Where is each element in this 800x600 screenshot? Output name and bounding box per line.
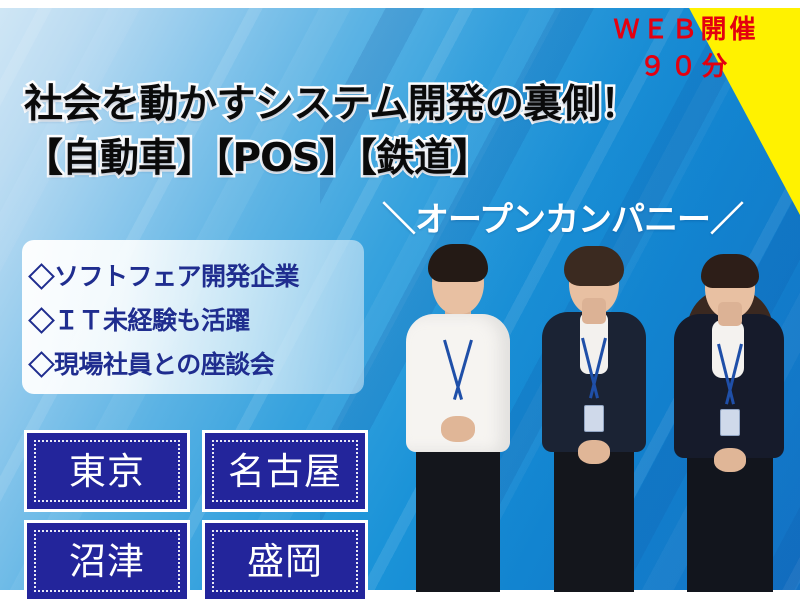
city-badge-grid: 東京 名古屋 沼津 盛岡 — [24, 430, 368, 600]
hair-center — [564, 246, 624, 286]
feature-item-label: 現場社員との座談会 — [54, 352, 274, 377]
id-badge-right — [720, 409, 740, 436]
feature-item-label: ＩＴ未経験も活躍 — [54, 308, 250, 333]
lanyard-left — [435, 340, 481, 406]
feature-item: ＩＴ未経験も活躍 — [32, 298, 364, 342]
hands-center — [578, 440, 610, 464]
open-company-ribbon: ＼オープンカンパニー／ — [382, 192, 743, 241]
city-badge-nagoya[interactable]: 名古屋 — [202, 430, 368, 512]
person-staff-center — [526, 240, 662, 592]
corner-flag-line2: ９０分 — [586, 49, 786, 86]
hair-right — [701, 254, 759, 288]
feature-item: 現場社員との座談会 — [32, 342, 364, 386]
corner-flag-line1: ＷＥＢ開催 — [586, 12, 786, 49]
person-staff-right — [660, 240, 800, 592]
city-badge-row: 沼津 盛岡 — [24, 520, 368, 600]
neck-center — [582, 298, 606, 324]
city-badge-row: 東京 名古屋 — [24, 430, 368, 512]
top-white-strip — [0, 0, 800, 8]
lanyard-center — [573, 338, 615, 402]
page-title: 社会を動かすシステム開発の裏側！ 【自動車】【POS】【鉄道】 — [24, 78, 664, 186]
corner-flag-text: ＷＥＢ開催 ９０分 — [586, 12, 786, 86]
event-banner: ＷＥＢ開催 ９０分 社会を動かすシステム開発の裏側！ 【自動車】【POS】【鉄道… — [0, 0, 800, 600]
feature-item-label: ソフトフェア開発企業 — [54, 264, 299, 289]
hair-left — [428, 244, 488, 282]
city-badge-label: 名古屋 — [228, 453, 342, 490]
neck-right — [718, 302, 742, 326]
city-badge-tokyo[interactable]: 東京 — [24, 430, 190, 512]
city-badge-label: 盛岡 — [247, 543, 323, 580]
headline-line-1: 社会を動かすシステム開発の裏側！ — [24, 78, 664, 132]
diamond-icon — [28, 263, 55, 290]
diamond-icon — [28, 307, 55, 334]
diamond-icon — [28, 351, 55, 378]
person-staff-left — [390, 240, 526, 592]
city-badge-numazu[interactable]: 沼津 — [24, 520, 190, 600]
id-badge-center — [584, 405, 604, 432]
feature-list-panel: ソフトフェア開発企業 ＩＴ未経験も活躍 現場社員との座談会 — [22, 240, 364, 394]
hands-left — [441, 416, 475, 442]
headline-line-2: 【自動車】【POS】【鉄道】 — [24, 132, 664, 186]
staff-photo — [378, 236, 800, 592]
city-badge-morioka[interactable]: 盛岡 — [202, 520, 368, 600]
hands-right — [714, 448, 746, 472]
lanyard-right — [709, 344, 751, 406]
city-badge-label: 東京 — [69, 453, 145, 490]
feature-item: ソフトフェア開発企業 — [32, 254, 364, 298]
city-badge-label: 沼津 — [69, 543, 145, 580]
